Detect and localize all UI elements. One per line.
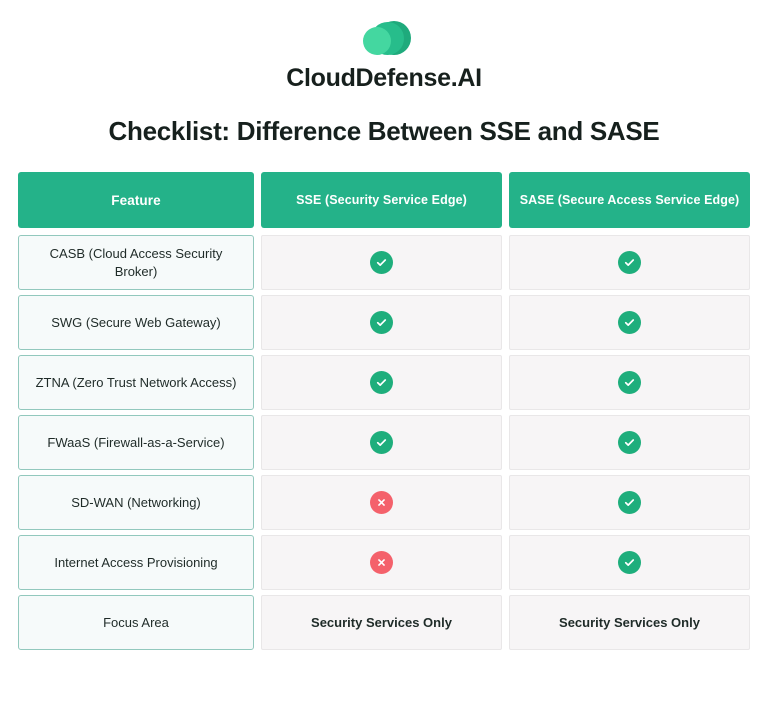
- cell-text: Security Services Only: [311, 615, 452, 630]
- cell-sse: [261, 235, 502, 290]
- cell-sse: [261, 415, 502, 470]
- cell-sase: [509, 415, 750, 470]
- table-row: SD-WAN (Networking): [18, 475, 750, 530]
- cell-sse: [261, 355, 502, 410]
- cell-sase: [509, 535, 750, 590]
- cell-feature: CASB (Cloud Access Security Broker): [18, 235, 254, 290]
- column-header-feature: Feature: [18, 172, 254, 228]
- check-circle-icon: [370, 371, 393, 394]
- column-header-sse: SSE (Security Service Edge): [261, 172, 502, 228]
- check-circle-icon: [370, 311, 393, 334]
- table-row: FWaaS (Firewall-as-a-Service): [18, 415, 750, 470]
- cell-text: Security Services Only: [559, 615, 700, 630]
- cell-sase: [509, 475, 750, 530]
- feature-label: CASB (Cloud Access Security Broker): [29, 245, 243, 280]
- check-circle-icon: [370, 431, 393, 454]
- check-circle-icon: [618, 371, 641, 394]
- cross-circle-icon: [370, 491, 393, 514]
- cell-sse: [261, 475, 502, 530]
- cell-feature: ZTNA (Zero Trust Network Access): [18, 355, 254, 410]
- cell-feature: SD-WAN (Networking): [18, 475, 254, 530]
- cell-sse: Security Services Only: [261, 595, 502, 650]
- feature-label: SD-WAN (Networking): [71, 494, 201, 512]
- check-circle-icon: [618, 551, 641, 574]
- cell-sse: [261, 295, 502, 350]
- column-header-sase: SASE (Secure Access Service Edge): [509, 172, 750, 228]
- table-body: CASB (Cloud Access Security Broker)SWG (…: [18, 235, 750, 650]
- logo-blob-front: [363, 27, 391, 55]
- cell-sase: [509, 355, 750, 410]
- cloud-blobs-icon: [355, 18, 413, 58]
- table-row: CASB (Cloud Access Security Broker): [18, 235, 750, 290]
- checklist-page: CloudDefense.AI Checklist: Difference Be…: [0, 0, 768, 723]
- table-row: Internet Access Provisioning: [18, 535, 750, 590]
- cell-feature: SWG (Secure Web Gateway): [18, 295, 254, 350]
- check-circle-icon: [618, 311, 641, 334]
- brand-header: CloudDefense.AI: [0, 0, 768, 91]
- table-row: SWG (Secure Web Gateway): [18, 295, 750, 350]
- check-circle-icon: [618, 251, 641, 274]
- feature-label: Focus Area: [103, 614, 169, 632]
- cell-sase: Security Services Only: [509, 595, 750, 650]
- feature-label: FWaaS (Firewall-as-a-Service): [47, 434, 224, 452]
- cell-feature: FWaaS (Firewall-as-a-Service): [18, 415, 254, 470]
- cell-sase: [509, 295, 750, 350]
- page-title: Checklist: Difference Between SSE and SA…: [0, 116, 768, 147]
- cell-feature: Focus Area: [18, 595, 254, 650]
- check-circle-icon: [618, 431, 641, 454]
- table-row: ZTNA (Zero Trust Network Access): [18, 355, 750, 410]
- feature-label: SWG (Secure Web Gateway): [51, 314, 221, 332]
- feature-label: ZTNA (Zero Trust Network Access): [36, 374, 237, 392]
- cell-sase: [509, 235, 750, 290]
- cell-sse: [261, 535, 502, 590]
- table-row: Focus AreaSecurity Services OnlySecurity…: [18, 595, 750, 650]
- check-circle-icon: [618, 491, 641, 514]
- cross-circle-icon: [370, 551, 393, 574]
- brand-wordmark: CloudDefense.AI: [286, 66, 482, 91]
- comparison-table: Feature SSE (Security Service Edge) SASE…: [0, 172, 768, 650]
- check-circle-icon: [370, 251, 393, 274]
- feature-label: Internet Access Provisioning: [54, 554, 217, 572]
- table-header-row: Feature SSE (Security Service Edge) SASE…: [18, 172, 750, 228]
- cell-feature: Internet Access Provisioning: [18, 535, 254, 590]
